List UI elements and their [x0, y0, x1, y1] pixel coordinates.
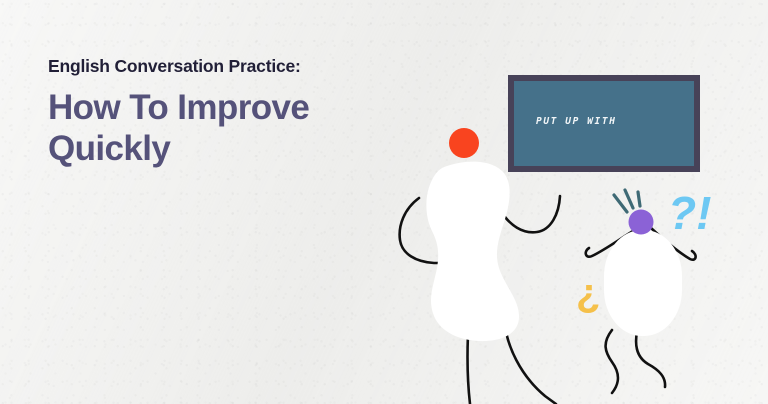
right-figure-right-arm [651, 228, 696, 260]
confusion-spark-lines [614, 190, 640, 212]
right-figure-body [604, 230, 682, 336]
blackboard-surface: PUT UP WITH [514, 81, 694, 166]
left-figure-leg-left [468, 316, 470, 404]
right-figure-head [629, 210, 654, 235]
punctuation-symbols: ?! ¿ [576, 187, 711, 315]
spark-line-2 [625, 190, 633, 208]
headline-line-2: Quickly [48, 128, 408, 169]
left-figure-right-arm [500, 196, 560, 232]
blackboard-phrase: PUT UP WITH [536, 116, 617, 127]
right-figure-leg-left [606, 330, 618, 393]
left-figure-left-arm [400, 198, 455, 263]
left-figure-head [449, 128, 479, 158]
spark-line-3 [638, 192, 640, 206]
figure-right-confused-person [586, 190, 696, 393]
question-exclamation-symbol: ?! [668, 187, 711, 239]
blackboard: PUT UP WITH [508, 75, 700, 172]
left-figure-body [426, 162, 519, 341]
inverted-question-symbol: ¿ [576, 271, 600, 315]
headline-line-1: How To Improve [48, 87, 408, 128]
text-block: English Conversation Practice: How To Im… [48, 56, 408, 170]
eyebrow-text: English Conversation Practice: [48, 56, 408, 77]
spark-line-1 [614, 195, 627, 212]
page-title: How To Improve Quickly [48, 87, 408, 170]
left-figure-leg-right [504, 318, 556, 404]
banner-canvas: English Conversation Practice: How To Im… [0, 0, 768, 404]
right-figure-left-arm [586, 228, 638, 257]
right-figure-leg-right [636, 332, 665, 387]
